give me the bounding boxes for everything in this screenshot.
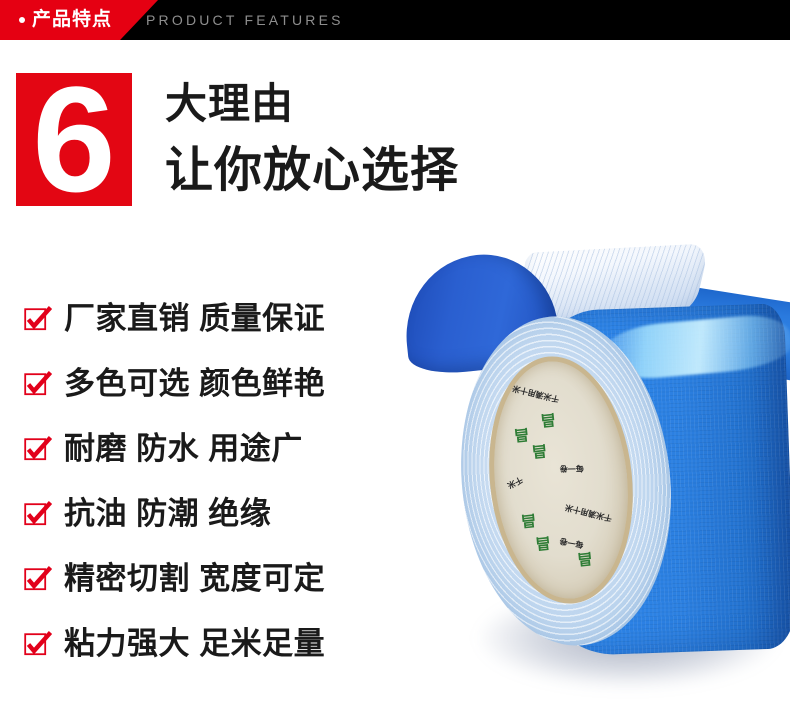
headline-line-2: 让你放心选择	[165, 142, 665, 200]
checkbox-checked-icon	[24, 630, 52, 658]
feature-item: 粘力强大 足米足量	[24, 623, 404, 688]
header-title-en: PRODUCT FEATURES	[146, 12, 344, 29]
feature-label: 抗油 防潮 绝缘	[64, 493, 271, 535]
product-photo: 昌 昌 昌 昌 昌 昌 千米满用十米 每一卷 千米 每一卷 千米满用十米	[390, 240, 790, 717]
feature-label: 粘力强大 足米足量	[64, 623, 325, 665]
header-title-cn: 产品特点	[32, 9, 112, 31]
checkbox-checked-icon	[24, 500, 52, 528]
reason-count-number: 6	[16, 59, 132, 219]
feature-item: 精密切割 宽度可定	[24, 558, 404, 623]
headline-block: 大理由 让你放心选择	[165, 78, 665, 200]
feature-list: 厂家直销 质量保证 多色可选 颜色鲜艳 耐磨 防水 用途广	[24, 298, 404, 688]
checkbox-checked-icon	[24, 305, 52, 333]
core-print-mark: 昌	[531, 442, 548, 458]
product-feature-banner: 产品特点 PRODUCT FEATURES 6 大理由 让你放心选择 厂家直销 …	[0, 0, 790, 717]
core-print-mark: 昌	[540, 411, 557, 427]
core-print-text: 每一卷	[559, 536, 584, 549]
core-print-mark: 昌	[577, 550, 594, 566]
core-print-text: 千米满用十米	[511, 383, 560, 403]
feature-label: 耐磨 防水 用途广	[64, 428, 303, 470]
feature-item: 抗油 防潮 绝缘	[24, 493, 404, 558]
core-print-mark: 昌	[535, 534, 552, 550]
core-print-text: 千米满用十米	[564, 503, 613, 523]
feature-item: 多色可选 颜色鲜艳	[24, 363, 404, 428]
feature-label: 精密切割 宽度可定	[64, 558, 325, 600]
core-print-text: 每一卷	[560, 464, 584, 473]
checkbox-checked-icon	[24, 370, 52, 398]
section-header-bar: 产品特点 PRODUCT FEATURES	[0, 0, 790, 40]
feature-label: 多色可选 颜色鲜艳	[64, 363, 325, 405]
core-print-text: 千米	[506, 475, 524, 490]
reason-count-box: 6	[16, 73, 132, 206]
core-print-mark: 昌	[520, 512, 537, 528]
core-print-mark: 昌	[513, 426, 530, 442]
bullet-dot-icon	[19, 17, 25, 23]
headline-line-1: 大理由	[165, 78, 665, 130]
feature-item: 耐磨 防水 用途广	[24, 428, 404, 493]
checkbox-checked-icon	[24, 565, 52, 593]
feature-label: 厂家直销 质量保证	[64, 298, 325, 340]
checkbox-checked-icon	[24, 435, 52, 463]
feature-item: 厂家直销 质量保证	[24, 298, 404, 363]
